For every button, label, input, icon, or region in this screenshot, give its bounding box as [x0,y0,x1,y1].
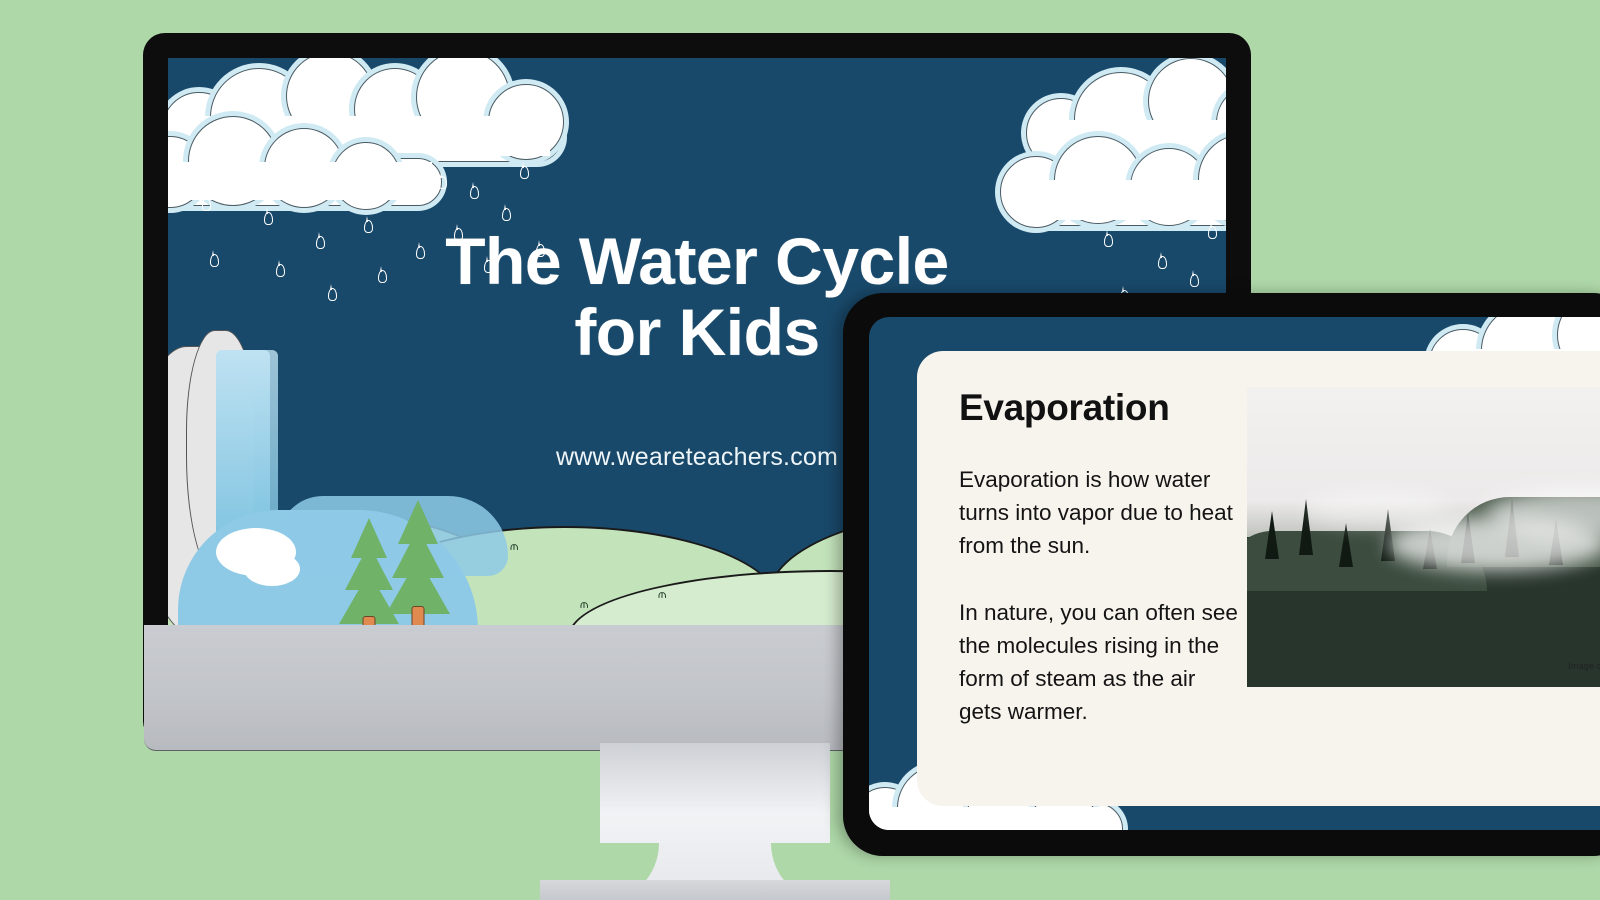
misty-forest-photo [1247,387,1600,687]
waterfall-foam [244,552,300,586]
card-text-column: Evaporation Evaporation is how water tur… [917,351,1247,806]
image-credit-caption: Image credit: Pixabay [1568,661,1600,671]
evaporation-card: Evaporation Evaporation is how water tur… [917,351,1600,806]
card-image-column: Image credit: Pixabay [1247,351,1600,806]
monitor-stand-foot [540,880,890,900]
tablet-screen[interactable]: Evaporation Evaporation is how water tur… [869,317,1600,830]
waterfall [254,350,278,530]
monitor-stand-neck [600,743,830,900]
cloud-top-left-2 [168,102,458,212]
grass-tuft: ⫙ [580,598,588,610]
grass-tuft: ⫙ [658,588,666,600]
tablet-device: Evaporation Evaporation is how water tur… [843,293,1600,856]
screenshot-stage: The Water Cycle for Kids www.weareteache… [0,0,1600,900]
pine-tree-front [338,518,400,625]
card-paragraph-1: Evaporation is how water turns into vapo… [959,463,1239,562]
card-paragraph-2: In nature, you can often see the molecul… [959,596,1239,728]
card-title: Evaporation [959,387,1247,429]
grass-tuft: ⫙ [510,540,518,552]
slide-title-line-1: The Water Cycle [168,226,1226,297]
cloud-top-right-2 [998,120,1226,230]
